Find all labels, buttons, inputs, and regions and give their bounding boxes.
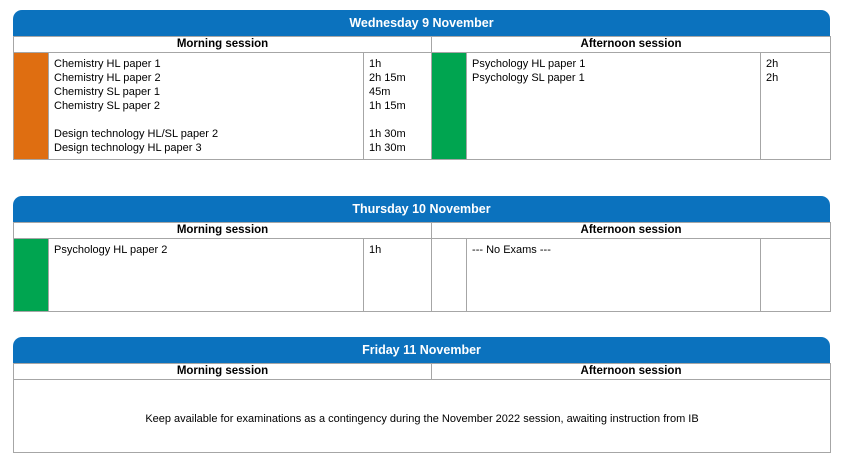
day-header-title: Friday 11 November — [13, 337, 830, 363]
afternoon-session-header: Afternoon session — [432, 37, 831, 53]
list-item: Psychology SL paper 1 — [472, 71, 760, 85]
duration-value: 1h 15m — [369, 99, 431, 113]
day-header-title: Wednesday 9 November — [13, 10, 830, 36]
afternoon-subject-list: Psychology HL paper 1 Psychology SL pape… — [467, 53, 761, 160]
day-header-title: Thursday 10 November — [13, 196, 830, 222]
morning-session-header: Morning session — [14, 364, 432, 380]
no-exams-label: --- No Exams --- — [472, 243, 760, 257]
list-item: Chemistry HL paper 2 — [54, 71, 363, 85]
afternoon-session-header: Afternoon session — [432, 223, 831, 239]
duration-value: 1h — [369, 57, 431, 71]
afternoon-subject-list: --- No Exams --- — [467, 239, 761, 312]
session-body-row: Psychology HL paper 2 1h --- No Exams --… — [14, 239, 831, 312]
duration-value: 2h 15m — [369, 71, 431, 85]
list-item-spacer — [54, 113, 363, 127]
list-item: Chemistry HL paper 1 — [54, 57, 363, 71]
morning-colour-bar — [14, 53, 49, 160]
morning-subject-list: Chemistry HL paper 1 Chemistry HL paper … — [49, 53, 364, 160]
list-item: Chemistry SL paper 2 — [54, 99, 363, 113]
duration-value: 2h — [766, 57, 830, 71]
duration-value: 45m — [369, 85, 431, 99]
day-table-wednesday: Morning session Afternoon session Chemis… — [13, 36, 831, 160]
afternoon-colour-bar — [432, 239, 467, 312]
afternoon-duration-list: 2h 2h — [761, 53, 831, 160]
exam-timetable-page: Wednesday 9 November Morning session Aft… — [0, 0, 842, 466]
list-item: Psychology HL paper 2 — [54, 243, 363, 257]
duration-value — [766, 243, 830, 257]
session-header-row: Morning session Afternoon session — [14, 364, 831, 380]
list-item: Design technology HL/SL paper 2 — [54, 127, 363, 141]
duration-value: 2h — [766, 71, 830, 85]
list-item: Chemistry SL paper 1 — [54, 85, 363, 99]
day-table-friday: Morning session Afternoon session Keep a… — [13, 363, 831, 453]
afternoon-session-header: Afternoon session — [432, 364, 831, 380]
session-header-row: Morning session Afternoon session — [14, 223, 831, 239]
day-block-friday: Friday 11 November Morning session After… — [13, 337, 830, 453]
morning-session-header: Morning session — [14, 223, 432, 239]
morning-session-header: Morning session — [14, 37, 432, 53]
list-item: Design technology HL paper 3 — [54, 141, 363, 155]
session-header-row: Morning session Afternoon session — [14, 37, 831, 53]
morning-duration-list: 1h 2h 15m 45m 1h 15m 1h 30m 1h 30m — [364, 53, 432, 160]
contingency-note-cell: Keep available for examinations as a con… — [14, 380, 831, 453]
duration-value: 1h 30m — [369, 127, 431, 141]
duration-value: 1h — [369, 243, 431, 257]
morning-subject-list: Psychology HL paper 2 — [49, 239, 364, 312]
day-block-thursday: Thursday 10 November Morning session Aft… — [13, 196, 830, 312]
afternoon-colour-bar — [432, 53, 467, 160]
list-item: Psychology HL paper 1 — [472, 57, 760, 71]
day-block-wednesday: Wednesday 9 November Morning session Aft… — [13, 10, 830, 160]
duration-spacer — [369, 113, 431, 127]
contingency-note-text: Keep available for examinations as a con… — [14, 407, 830, 425]
afternoon-duration-list — [761, 239, 831, 312]
day-table-thursday: Morning session Afternoon session Psycho… — [13, 222, 831, 312]
duration-value: 1h 30m — [369, 141, 431, 155]
morning-duration-list: 1h — [364, 239, 432, 312]
session-body-row: Chemistry HL paper 1 Chemistry HL paper … — [14, 53, 831, 160]
session-body-row: Keep available for examinations as a con… — [14, 380, 831, 453]
morning-colour-bar — [14, 239, 49, 312]
